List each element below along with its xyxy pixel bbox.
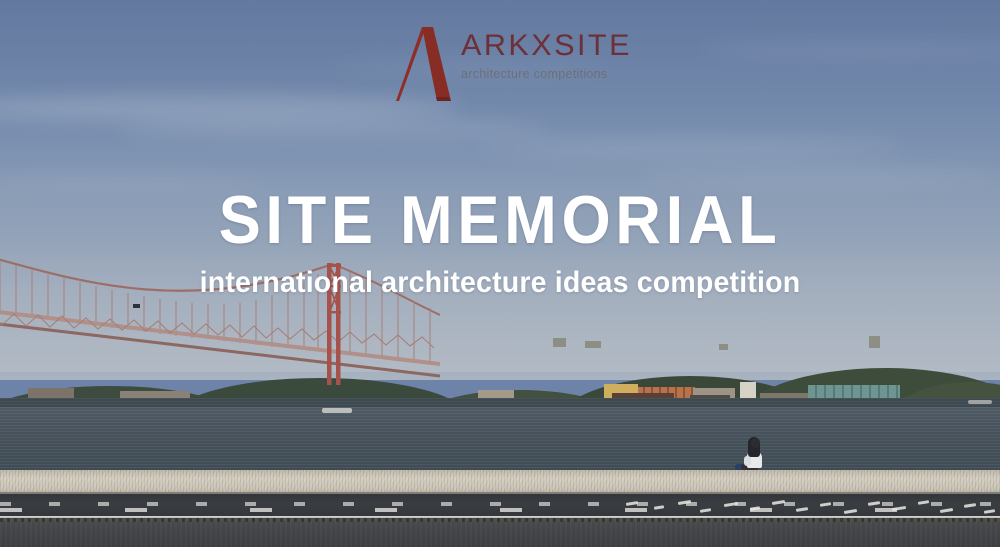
road-speck	[678, 500, 691, 505]
road-speck	[654, 505, 664, 510]
hilltop-structure	[553, 338, 566, 347]
road-speck	[626, 501, 638, 506]
brand-wordmark: ARKXSITE	[461, 31, 629, 61]
road-speck	[700, 508, 711, 513]
hilltop-structure	[719, 344, 728, 350]
road-speck	[868, 501, 880, 506]
cloud-streak	[700, 40, 1000, 58]
brand-wordmark-block: ARKXSITE architecture competitions	[461, 31, 626, 81]
person-sitting	[735, 437, 775, 473]
cobblestone-promenade	[0, 470, 1000, 494]
road-speck	[892, 506, 906, 511]
foreground-asphalt	[0, 518, 1000, 547]
far-water-band	[0, 398, 1000, 407]
cloud-streak	[0, 95, 460, 121]
small-boat	[322, 408, 352, 413]
cloud-streak	[120, 120, 550, 138]
arkxsite-a-mark-icon	[393, 25, 455, 103]
hilltop-structure	[585, 341, 601, 348]
river-water	[0, 398, 1000, 472]
poster-canvas: ARKXSITE architecture competitions SITE …	[0, 0, 1000, 547]
headline-block: SITE MEMORIAL international architecture…	[0, 186, 1000, 298]
road-speck	[772, 500, 785, 505]
road-speck	[918, 500, 929, 505]
brand-tagline: architecture competitions	[461, 68, 626, 81]
road-speck	[750, 506, 760, 511]
road-speck	[796, 507, 808, 512]
competition-subtitle: international architecture ideas competi…	[25, 268, 975, 298]
brand-logo[interactable]: ARKXSITE architecture competitions	[393, 25, 623, 103]
person-head	[751, 438, 760, 448]
road-speck	[724, 502, 738, 507]
person-arm	[744, 456, 751, 466]
road-speck	[820, 502, 831, 507]
competition-title: SITE MEMORIAL	[35, 186, 965, 254]
road-speck	[964, 503, 976, 508]
cloud-streak	[480, 138, 900, 158]
gutter-grit	[0, 518, 1000, 522]
hilltop-tower	[869, 336, 880, 348]
road-speck	[844, 509, 857, 514]
road-speck	[984, 509, 995, 514]
road-speck	[940, 508, 953, 513]
small-boat	[968, 400, 992, 404]
